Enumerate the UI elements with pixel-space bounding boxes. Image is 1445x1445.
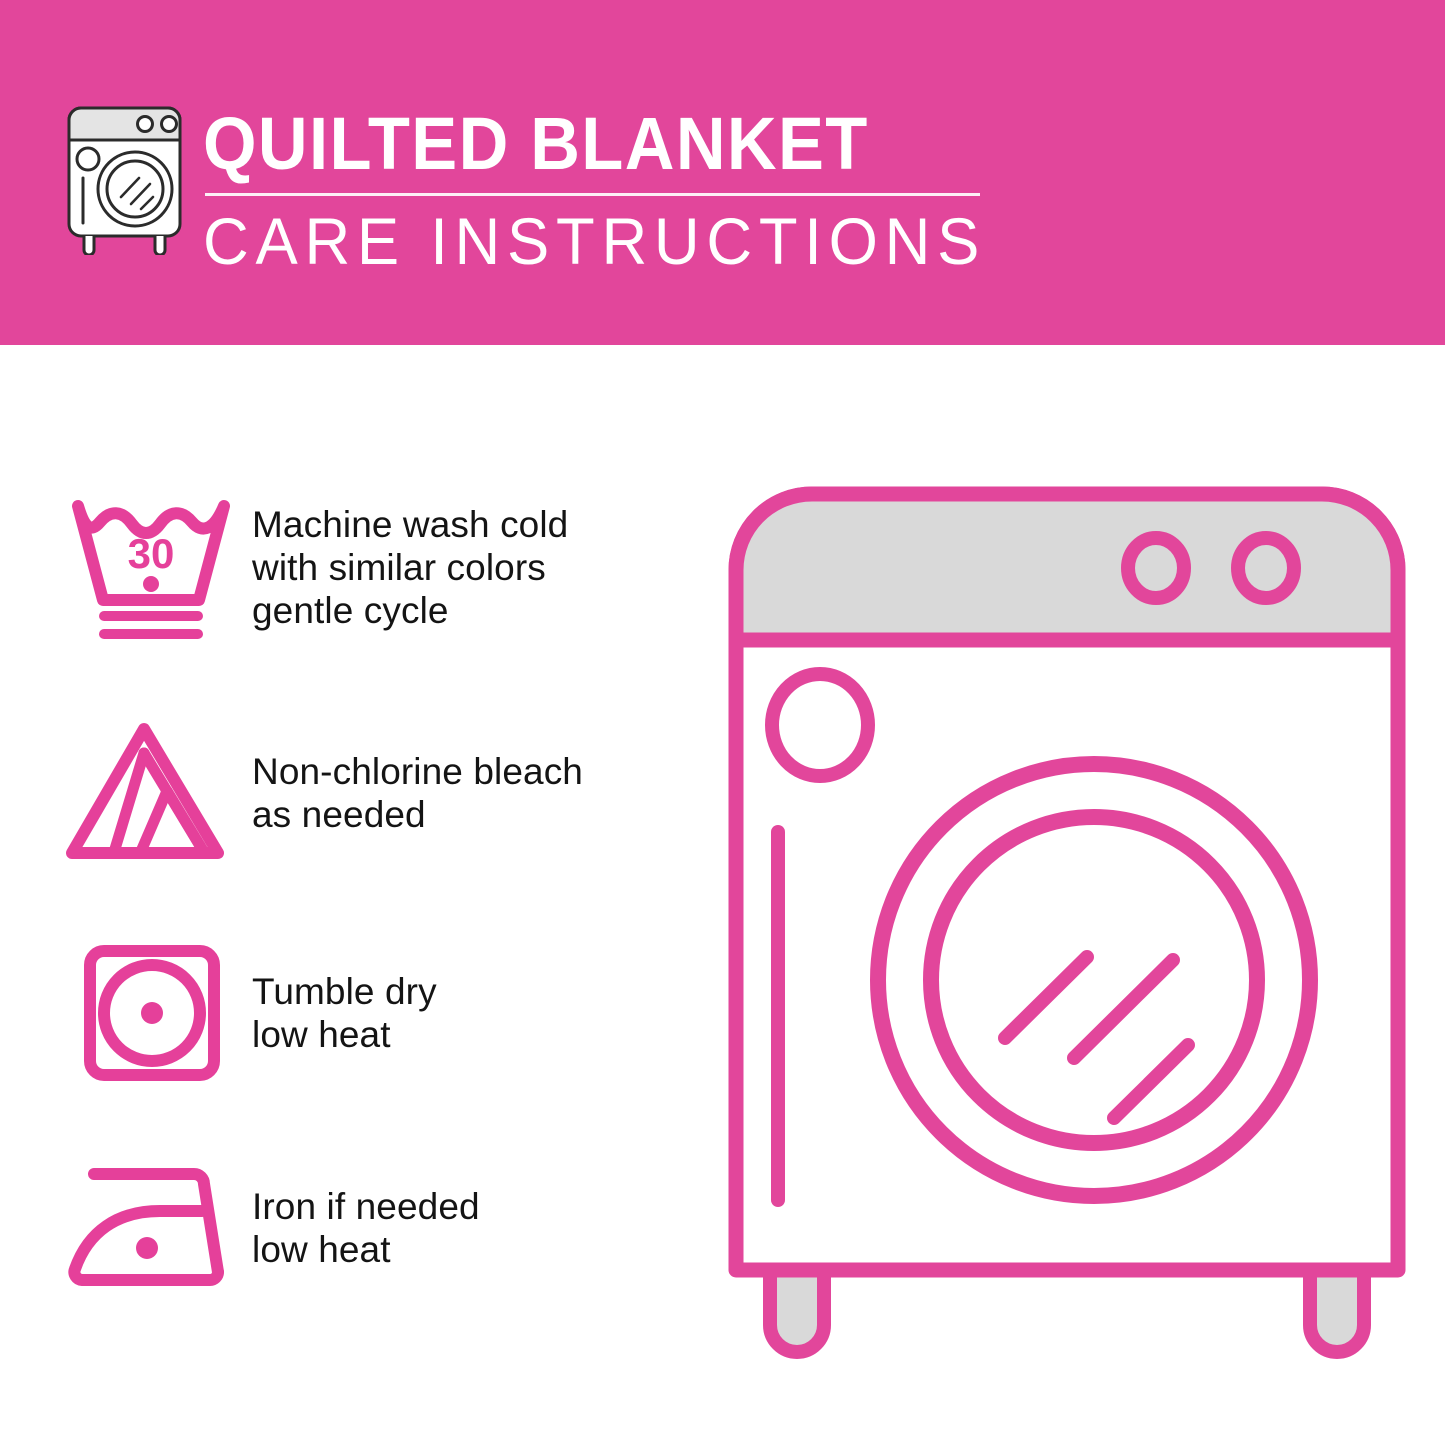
care-row: Non-chlorine bleach as needed	[62, 715, 682, 870]
care-instruction-list: 30 Machine wash cold with similar colors…	[0, 345, 700, 1445]
front-load-washing-machine-illustration	[722, 480, 1412, 1370]
header-banner: QUILTED BLANKET CARE INSTRUCTIONS	[0, 0, 1445, 345]
care-instruction-text: Tumble dry low heat	[240, 970, 437, 1056]
bleach-triangle-icon	[62, 715, 240, 870]
washer-indicator-circle	[772, 674, 868, 776]
care-instruction-text: Machine wash cold with similar colors ge…	[240, 503, 568, 632]
care-row: 30 Machine wash cold with similar colors…	[62, 490, 682, 645]
page-subtitle: CARE INSTRUCTIONS	[203, 206, 961, 276]
tumble-dry-icon	[62, 935, 240, 1090]
header-divider	[205, 193, 980, 196]
page-title: QUILTED BLANKET	[203, 104, 938, 184]
care-instruction-text: Non-chlorine bleach as needed	[240, 750, 583, 836]
washer-knob-1	[1128, 538, 1184, 598]
washing-machine-icon	[57, 100, 192, 255]
care-instruction-text: Iron if needed low heat	[240, 1185, 480, 1271]
washer-knob-2	[1238, 538, 1294, 598]
wash-temperature-label: 30	[128, 530, 175, 577]
care-instructions-page: QUILTED BLANKET CARE INSTRUCTIONS 30	[0, 0, 1445, 1445]
washer-door-inner	[931, 817, 1257, 1143]
iron-icon	[62, 1150, 240, 1305]
header-text-block: QUILTED BLANKET CARE INSTRUCTIONS	[203, 104, 993, 276]
care-row: Tumble dry low heat	[62, 935, 682, 1090]
wash-tub-30-icon: 30	[62, 490, 240, 645]
care-row: Iron if needed low heat	[62, 1150, 682, 1305]
